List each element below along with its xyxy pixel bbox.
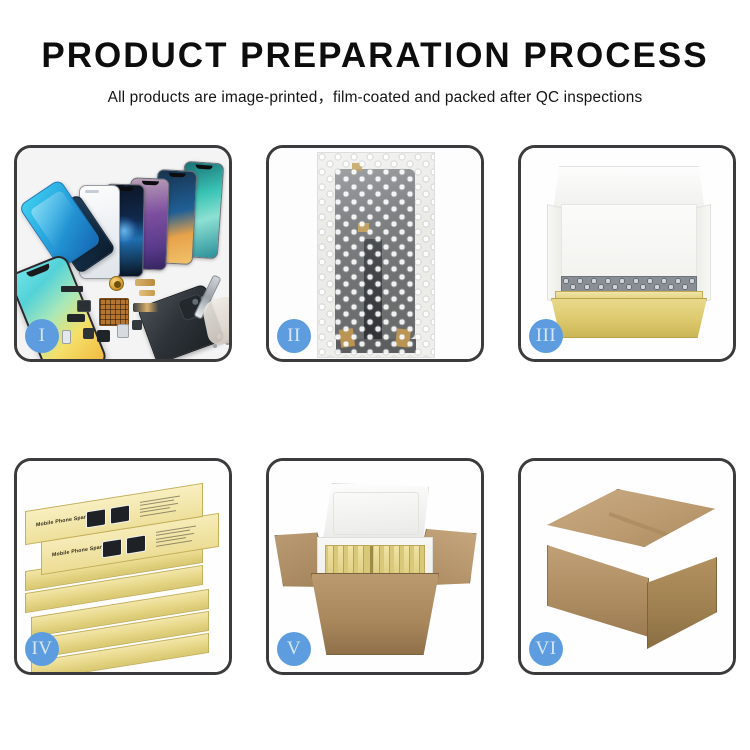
step-number-badge-4: IV <box>25 632 59 666</box>
step-number-badge-5: V <box>277 632 311 666</box>
page-title: PRODUCT PREPARATION PROCESS <box>0 36 750 76</box>
bubble-texture <box>318 153 434 357</box>
process-step-panel-5: V <box>266 458 484 675</box>
phone-notch-icon <box>141 180 158 185</box>
camera-module-part <box>77 300 91 312</box>
lid-spec-lines <box>156 524 204 551</box>
flex-cable-part-1 <box>135 279 155 286</box>
foam-liner-lid <box>323 483 429 545</box>
small-component-1 <box>83 328 94 339</box>
phone-notch-icon <box>169 172 186 177</box>
small-component-2 <box>97 330 110 342</box>
mailer-box-foam-backing <box>561 204 697 282</box>
camera-module-part-2 <box>67 314 85 322</box>
lid-screen-image-b <box>126 534 146 554</box>
header: PRODUCT PREPARATION PROCESS All products… <box>0 36 750 107</box>
lid-spec-lines <box>140 494 188 521</box>
product-preparation-infographic: PRODUCT PREPARATION PROCESS All products… <box>0 0 750 750</box>
earpiece-bar-part <box>61 286 83 292</box>
page-subtitle: All products are image-printed，film-coat… <box>0 85 750 107</box>
step-number-badge-1: I <box>25 319 59 353</box>
process-step-panel-3: III <box>518 145 736 362</box>
small-component-4 <box>132 320 142 330</box>
step-number-badge-2: II <box>277 319 311 353</box>
chip-grid-part <box>99 298 129 326</box>
phone-notch-icon <box>195 164 212 169</box>
process-step-panel-6: VI <box>518 458 736 675</box>
flex-cable-part-2 <box>139 290 155 296</box>
lid-screen-image-b <box>110 504 130 524</box>
process-step-grid: I II <box>14 145 736 675</box>
step-number-badge-3: III <box>529 319 563 353</box>
process-step-panel-4: Mobile Phone Spare Parts Mobile Phone Sp… <box>14 458 232 675</box>
flex-cable-part-3 <box>133 303 159 312</box>
process-step-panel-1: I <box>14 145 232 362</box>
side-button-part <box>62 330 71 344</box>
process-step-panel-2: II <box>266 145 484 362</box>
speaker-part <box>109 276 124 291</box>
step-number-badge-6: VI <box>529 632 563 666</box>
small-component-3 <box>117 324 129 338</box>
carton-body <box>311 573 439 655</box>
lid-screen-image-a <box>102 538 122 558</box>
mailer-box-front-yellow <box>551 298 707 338</box>
bubble-wrap-bag <box>317 152 435 358</box>
lid-screen-image-a <box>86 508 106 528</box>
